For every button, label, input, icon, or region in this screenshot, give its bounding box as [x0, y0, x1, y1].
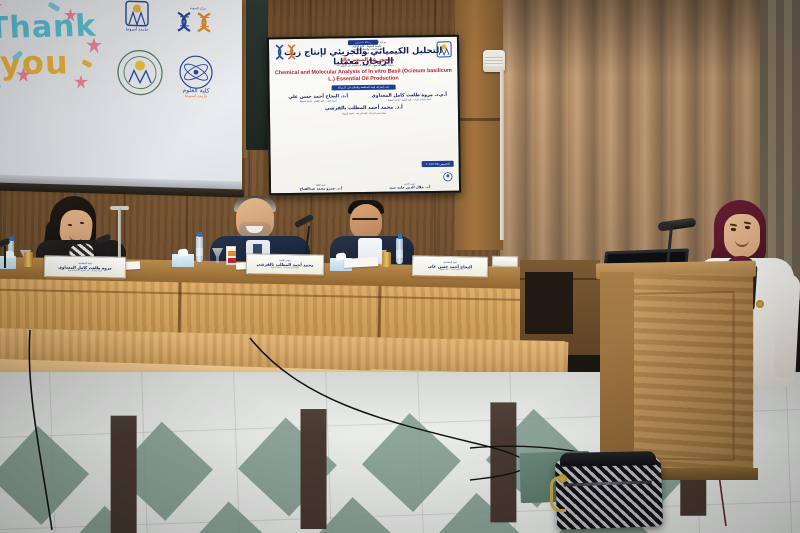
presenter-eye	[745, 226, 750, 229]
projector-screen: Thank you جامعة أسيوط	[0, 0, 242, 191]
thank-you-graphic: Thank you	[0, 0, 106, 94]
confetti-star-icon	[74, 75, 88, 89]
presenter-arm	[773, 273, 800, 378]
poster-footer-1: عميد الكلية أ.د. عمرو محمد عبدالفتاح	[300, 183, 342, 191]
papers-stack[interactable]	[344, 257, 378, 268]
handbag-strap	[550, 476, 566, 512]
panelist-right-face	[350, 204, 382, 240]
cabinet-opening	[525, 272, 573, 334]
university-seal-logo-icon	[116, 48, 164, 97]
svg-text:جامعة أسيوط: جامعة أسيوط	[126, 26, 149, 32]
handbag-zipper	[564, 481, 652, 487]
handbag-top-trim	[560, 451, 656, 467]
nameplate-extra	[492, 256, 518, 268]
projected-slide: Thank you جامعة أسيوط	[0, 0, 242, 191]
poster-supervisor-center: أ.د. محمد أحمد المطلب بالقرشي أستاذ قسم …	[270, 105, 458, 117]
tissue-box[interactable]	[172, 254, 194, 267]
podium-front-panel	[617, 291, 735, 461]
panelist-right-brow	[352, 218, 378, 220]
faculty-of-science-logo-icon: كلية العلوم جامعة اسيوط	[174, 52, 218, 99]
poster-header: وزارة التعليم العالي والبحث العلمي جامعة…	[269, 37, 458, 78]
blackboard	[246, 0, 268, 150]
poster-dna-logo-icon	[273, 42, 299, 67]
poster-footer-0: رئيس القسم أ.د. جلال الدين حامد سيد	[389, 182, 430, 190]
handbag[interactable]	[555, 456, 663, 530]
poster-footer: رئيس القسم أ.د. جلال الدين حامد سيد عميد…	[271, 182, 459, 192]
nameplate-panelist-right: لجنة المناقشة النجاح أحمد حسن علي أستاذ …	[412, 255, 488, 278]
metal-cup[interactable]	[24, 252, 33, 267]
poster-supervisors-row: أ.د. النجاح أحمد حسن علي أستاذ النبات - …	[270, 93, 458, 105]
nameplate-panelist-left: لجنة المناقشة مروة طلعت كامل المعداوي أس…	[44, 255, 126, 278]
svg-text:مركز البحوث: مركز البحوث	[190, 6, 207, 10]
poster-seal-icon	[443, 169, 453, 187]
confetti-star-icon	[0, 0, 2, 10]
microphone-rod	[4, 246, 6, 268]
wall-wood-pillar	[455, 0, 503, 250]
water-bottle[interactable]	[396, 238, 403, 264]
conference-hall-scene: Thank you جامعة أسيوط	[0, 0, 800, 533]
presenter-eye	[731, 228, 736, 231]
presenter-face	[724, 214, 760, 258]
nameplate-panelist-center: رئيس اللجنة محمد أحمد المطلب بالقرشي أست…	[246, 253, 324, 275]
poster-date: الخميس ٢٠٢٤/١٢/٥	[422, 161, 454, 167]
wall-speaker-unit	[483, 50, 505, 72]
poster-supervisor-0: أ.د. النجاح أحمد حسن علي أستاذ النبات - …	[275, 94, 362, 104]
panelist-left-eye	[68, 224, 72, 227]
poster-committee-band: تحت إشراف لجنة المناقشة والحكم على الرسا…	[332, 85, 396, 91]
svg-text:جامعة اسيوط: جامعة اسيوط	[185, 93, 208, 99]
poster-presenter-sub: رسالة مقدمة للحصول على درجة الماجستير في…	[302, 63, 432, 68]
assiut-university-logo-icon: جامعة أسيوط	[122, 0, 152, 33]
podium-left-face	[600, 272, 634, 470]
panelist-left-eye	[80, 222, 84, 225]
poster-university-logo-icon	[435, 40, 453, 67]
microphone-head-icon	[95, 233, 111, 244]
poster-supervisor-1: أ.م.د. مروة طلعت كامل المعداوي أستاذ مسا…	[366, 93, 453, 103]
confetti-dash-icon	[81, 59, 92, 68]
thank-you-text-thank: Thank	[0, 9, 97, 47]
presenter-lapel-pin	[756, 300, 764, 308]
poster-header-text: وزارة التعليم العالي والبحث العلمي جامعة…	[299, 40, 435, 68]
table-microphone[interactable]	[0, 240, 14, 270]
thank-you-text-you: you	[0, 43, 69, 81]
water-bottle[interactable]	[196, 236, 203, 262]
metal-cup[interactable]	[382, 252, 391, 267]
thesis-defense-poster: وزارة التعليم العالي والبحث العلمي جامعة…	[267, 35, 461, 196]
pillar-seam	[455, 118, 503, 121]
snack-box[interactable]	[226, 246, 236, 265]
vertical-pole	[500, 70, 504, 240]
dna-helix-logo-icon: مركز البحوث	[172, 4, 224, 35]
